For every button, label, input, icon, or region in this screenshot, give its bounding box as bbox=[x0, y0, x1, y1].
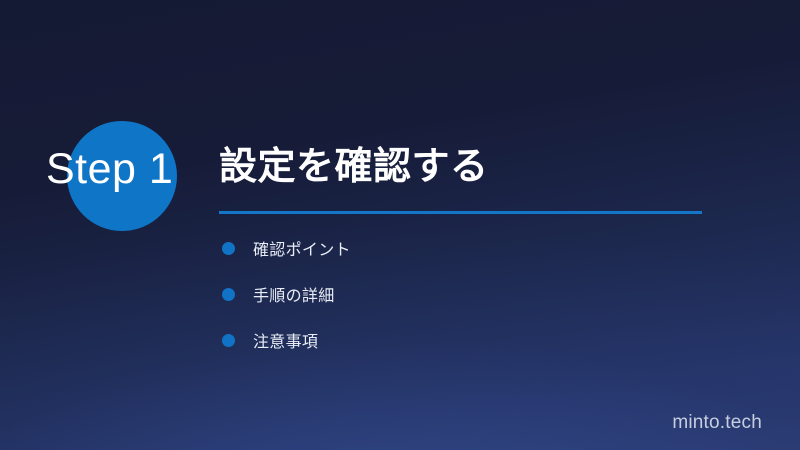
bullet-item-label: 手順の詳細 bbox=[253, 282, 335, 306]
slide-canvas: Step 1 設定を確認する 確認ポイント 手順の詳細 注意事項 minto.t… bbox=[0, 0, 800, 450]
title-divider bbox=[219, 211, 702, 214]
step-badge-label: Step 1 bbox=[46, 148, 173, 191]
list-item: 注意事項 bbox=[219, 330, 351, 350]
bullet-dot-icon bbox=[222, 242, 235, 255]
bullet-dot-icon bbox=[222, 288, 235, 301]
list-item: 手順の詳細 bbox=[219, 284, 351, 304]
bullet-item-label: 注意事項 bbox=[253, 328, 318, 352]
list-item: 確認ポイント bbox=[219, 238, 351, 258]
bullet-list: 確認ポイント 手順の詳細 注意事項 bbox=[219, 238, 351, 350]
slide-title: 設定を確認する bbox=[219, 146, 489, 190]
watermark-brand: minto.tech bbox=[672, 412, 762, 434]
bullet-dot-icon bbox=[222, 334, 235, 347]
bullet-item-label: 確認ポイント bbox=[253, 236, 351, 260]
